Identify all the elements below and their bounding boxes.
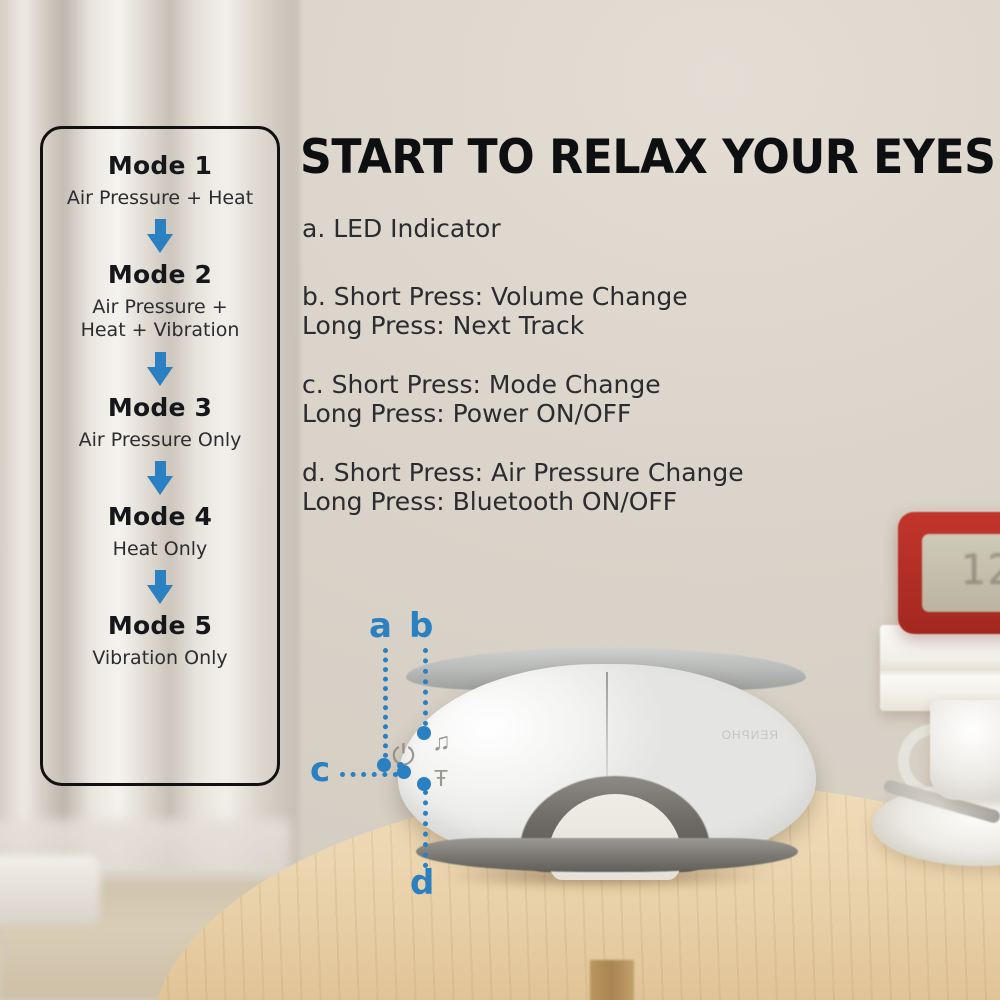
callout-line-a	[383, 648, 388, 758]
device-base	[416, 838, 798, 872]
flow-arrow-2-3	[147, 352, 173, 386]
clock-digits: 12	[960, 545, 1000, 599]
instruction-d-line-1: d. Short Press: Air Pressure Change	[302, 458, 744, 487]
callout-dot-a	[377, 758, 391, 772]
table-leg	[590, 960, 634, 1000]
floor-object	[0, 855, 100, 925]
brand-logo: RENPHO	[720, 728, 778, 744]
mode-2-title: Mode 2	[108, 260, 212, 289]
mode-1-title: Mode 1	[108, 151, 212, 180]
instruction-a-line-1: a. LED Indicator	[302, 214, 501, 243]
callout-dot-b	[417, 726, 431, 740]
callout-label-d: d	[410, 866, 434, 900]
instruction-b-line-1: b. Short Press: Volume Change	[302, 282, 688, 311]
instruction-a: a. LED Indicator	[302, 214, 501, 243]
coffee-cup	[930, 700, 1000, 800]
page-title: START TO RELAX YOUR EYES	[300, 130, 939, 185]
instruction-c-line-2: Long Press: Power ON/OFF	[302, 399, 661, 428]
device-seam	[606, 672, 608, 782]
flow-arrow-4-5	[147, 570, 173, 604]
callout-label-b: b	[409, 609, 433, 643]
callout-dot-d	[417, 777, 431, 791]
instruction-b-line-2: Long Press: Next Track	[302, 311, 688, 340]
callout-dot-c	[397, 765, 411, 779]
callout-line-c	[340, 772, 398, 777]
mode-4-description: Heat Only	[113, 538, 208, 561]
callout-label-a: a	[369, 609, 392, 643]
stacked-books	[880, 625, 1000, 711]
callout-label-c: c	[310, 753, 330, 787]
mode-1-description: Air Pressure + Heat	[67, 187, 253, 210]
instruction-d: d. Short Press: Air Pressure Change Long…	[302, 458, 744, 516]
instruction-c: c. Short Press: Mode Change Long Press: …	[302, 370, 661, 428]
infographic-canvas: 12 RENPHO ⏻ ♫ Ŧ a b c d Mode 1 Air Press…	[0, 0, 1000, 1000]
instruction-b: b. Short Press: Volume Change Long Press…	[302, 282, 688, 340]
instruction-d-line-2: Long Press: Bluetooth ON/OFF	[302, 487, 744, 516]
mode-5-description: Vibration Only	[92, 647, 227, 670]
mode-3-title: Mode 3	[108, 393, 212, 422]
air-pressure-icon[interactable]: Ŧ	[434, 765, 448, 792]
callout-line-b	[423, 648, 428, 726]
music-note-icon[interactable]: ♫	[432, 728, 451, 757]
flow-arrow-3-4	[147, 461, 173, 495]
flow-arrow-1-2	[147, 219, 173, 253]
eye-massager-device: RENPHO ⏻ ♫ Ŧ	[398, 648, 816, 880]
mode-panel: Mode 1 Air Pressure + Heat Mode 2 Air Pr…	[40, 126, 280, 786]
mode-2-description: Air Pressure + Heat + Vibration	[81, 296, 240, 342]
mode-4-title: Mode 4	[108, 502, 212, 531]
mode-3-description: Air Pressure Only	[79, 429, 242, 452]
callout-line-d	[423, 790, 428, 868]
mode-5-title: Mode 5	[108, 611, 212, 640]
instruction-c-line-1: c. Short Press: Mode Change	[302, 370, 661, 399]
